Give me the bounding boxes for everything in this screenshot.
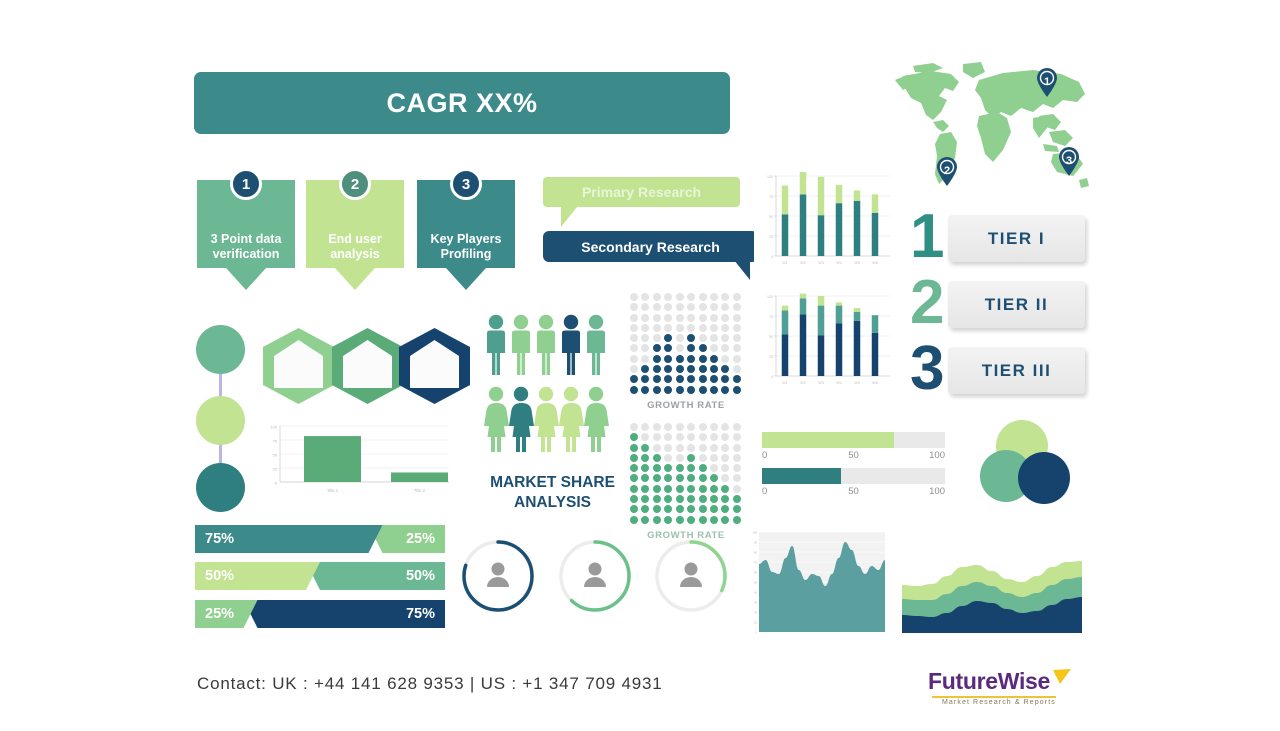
bar-segment-6-1 bbox=[872, 333, 879, 376]
bar-segment-3-2 bbox=[818, 177, 825, 215]
person-male-icon-1 bbox=[487, 315, 505, 375]
dot bbox=[676, 324, 684, 332]
dot bbox=[687, 444, 695, 452]
y-tick: 100 bbox=[270, 425, 277, 430]
step-card-3[interactable]: 3 Key Players Profiling bbox=[417, 180, 515, 280]
dot bbox=[676, 474, 684, 482]
dot bbox=[676, 516, 684, 524]
tier-row-2[interactable]: 2 TIER II bbox=[910, 281, 1085, 328]
scale-bar-ticks-2: 0 50 100 bbox=[762, 486, 945, 500]
dot bbox=[653, 454, 661, 462]
dot-matrix-growth-rate-green: GROWTH RATE bbox=[630, 423, 742, 541]
y-tick: 10 bbox=[754, 621, 757, 625]
y-tick: 25 bbox=[769, 355, 773, 359]
y-tick: 90 bbox=[754, 541, 757, 545]
tier-row-1[interactable]: 1 TIER I bbox=[910, 215, 1085, 262]
dot bbox=[630, 423, 638, 431]
dot bbox=[630, 344, 638, 352]
dot bbox=[699, 365, 707, 373]
cagr-banner: CAGR XX% bbox=[194, 72, 730, 134]
donut-progress-1 bbox=[459, 537, 537, 615]
y-tick: 0 bbox=[771, 255, 773, 259]
step-card-2[interactable]: 2 End user analysis bbox=[306, 180, 404, 280]
scale-tick-0-1: 0 bbox=[762, 450, 767, 461]
step-label-2: End user analysis bbox=[306, 232, 404, 262]
dot bbox=[710, 423, 718, 431]
dot bbox=[710, 495, 718, 503]
dot bbox=[687, 334, 695, 342]
area-chart-teal: 1009080706050403020100 bbox=[747, 528, 887, 636]
bubble-tail-secondary bbox=[734, 260, 750, 280]
dot bbox=[721, 386, 729, 394]
dot bbox=[733, 303, 741, 311]
dot bbox=[710, 365, 718, 373]
dot bbox=[630, 444, 638, 452]
bar-segment-2-2 bbox=[800, 298, 807, 314]
percent-split-bar-3: 75%25% bbox=[195, 600, 445, 628]
dot bbox=[630, 433, 638, 441]
percent-left-2: 50% bbox=[195, 562, 234, 590]
dot bbox=[641, 375, 649, 383]
market-share-analysis-title: MARKET SHARE ANALYSIS bbox=[470, 473, 635, 513]
dot bbox=[664, 334, 672, 342]
chain-circle-1 bbox=[196, 325, 245, 374]
map-landmass-7 bbox=[975, 70, 1085, 118]
dot bbox=[710, 334, 718, 342]
dot bbox=[641, 314, 649, 322]
dot bbox=[721, 324, 729, 332]
pin-label: 3 bbox=[1057, 150, 1081, 172]
bar-segment-1-1 bbox=[782, 334, 789, 376]
person-male-icon-3 bbox=[537, 315, 555, 375]
dot bbox=[653, 474, 661, 482]
y-tick: 0 bbox=[771, 375, 773, 379]
dot bbox=[653, 355, 661, 363]
person-female-icon-3 bbox=[534, 387, 559, 452]
dot bbox=[733, 495, 741, 503]
map-landmass-11 bbox=[1049, 130, 1073, 146]
dot bbox=[721, 444, 729, 452]
percent-left-1: 75% bbox=[195, 525, 234, 553]
dot bbox=[687, 474, 695, 482]
percent-split-bar-1: 25%75% bbox=[195, 525, 445, 553]
dot bbox=[710, 464, 718, 472]
dot bbox=[641, 423, 649, 431]
dot bbox=[630, 324, 638, 332]
dot bbox=[641, 344, 649, 352]
pin-label: 1 bbox=[1035, 71, 1059, 93]
y-tick: 20 bbox=[754, 611, 757, 615]
dot bbox=[687, 324, 695, 332]
futurewise-logo: FutureWise Market Research & Reports bbox=[928, 668, 1078, 716]
dot bbox=[641, 303, 649, 311]
dot bbox=[676, 433, 684, 441]
dot bbox=[699, 386, 707, 394]
dot bbox=[687, 433, 695, 441]
dot bbox=[721, 334, 729, 342]
person-icon bbox=[487, 563, 509, 588]
y-tick: 60 bbox=[754, 571, 757, 575]
dot bbox=[721, 423, 729, 431]
chain-connector-2 bbox=[219, 443, 222, 465]
chain-circle-3 bbox=[196, 463, 245, 512]
dot bbox=[676, 355, 684, 363]
bar-segment-6-2 bbox=[872, 194, 879, 212]
dot bbox=[699, 485, 707, 493]
dot bbox=[721, 474, 729, 482]
scale-tick-50-2: 50 bbox=[848, 486, 859, 497]
dot bbox=[653, 485, 661, 493]
world-map: 123 bbox=[893, 58, 1093, 203]
dot bbox=[733, 355, 741, 363]
bar-segment-1-2 bbox=[782, 310, 789, 334]
dot bbox=[721, 293, 729, 301]
dot bbox=[699, 314, 707, 322]
dot bbox=[653, 495, 661, 503]
dot bbox=[641, 485, 649, 493]
dot bbox=[676, 495, 684, 503]
dot bbox=[710, 355, 718, 363]
dot bbox=[710, 344, 718, 352]
secondary-research-bubble[interactable]: Secondary Research bbox=[543, 231, 758, 262]
dot bbox=[653, 444, 661, 452]
bar-segment-4-2 bbox=[836, 306, 843, 324]
dot bbox=[630, 355, 638, 363]
dot bbox=[699, 423, 707, 431]
scale-tick-0-2: 0 bbox=[762, 486, 767, 497]
dot bbox=[687, 485, 695, 493]
scale-tick-50-1: 50 bbox=[848, 450, 859, 461]
bar-segment-2-2 bbox=[800, 172, 807, 194]
dot bbox=[664, 516, 672, 524]
dot bbox=[687, 344, 695, 352]
y-tick: 0 bbox=[756, 631, 758, 635]
dot bbox=[664, 495, 672, 503]
scale-bar-1: 0 50 100 bbox=[762, 432, 945, 464]
dot bbox=[664, 293, 672, 301]
dot bbox=[710, 303, 718, 311]
dot bbox=[687, 454, 695, 462]
logo-wordmark: FutureWise bbox=[928, 668, 1050, 695]
y-tick: 100 bbox=[767, 175, 773, 179]
bar-segment-2-1 bbox=[800, 194, 807, 256]
dot bbox=[721, 454, 729, 462]
contact-info: Contact: UK : +44 141 628 9353 | US : +1… bbox=[197, 674, 663, 694]
dot bbox=[653, 293, 661, 301]
dot bbox=[630, 464, 638, 472]
dot bbox=[653, 334, 661, 342]
dot bbox=[664, 386, 672, 394]
dot bbox=[653, 464, 661, 472]
dot bbox=[687, 365, 695, 373]
y-tick: 50 bbox=[754, 581, 757, 585]
logo-tagline: Market Research & Reports bbox=[942, 699, 1056, 706]
bar-segment-1-2 bbox=[782, 186, 789, 215]
y-tick: 40 bbox=[754, 591, 757, 595]
bar-segment-5-2 bbox=[854, 190, 861, 200]
map-landmass-4 bbox=[933, 120, 949, 132]
dot bbox=[721, 505, 729, 513]
tier-plate-2: TIER II bbox=[948, 281, 1085, 328]
y-tick: 75 bbox=[273, 439, 278, 444]
y-tick: 50 bbox=[769, 335, 773, 339]
dot bbox=[630, 454, 638, 462]
person-icon bbox=[584, 563, 606, 588]
dot bbox=[721, 485, 729, 493]
dot bbox=[699, 355, 707, 363]
x-label-3: W3 bbox=[818, 261, 823, 265]
dot bbox=[630, 516, 638, 524]
x-label-1: Title 1 bbox=[327, 488, 339, 493]
dot bbox=[664, 454, 672, 462]
x-label-2: Title 2 bbox=[414, 488, 426, 493]
dot bbox=[653, 433, 661, 441]
dot bbox=[630, 474, 638, 482]
dot bbox=[733, 454, 741, 462]
people-icon-group bbox=[484, 312, 614, 452]
chain-connector-1 bbox=[219, 372, 222, 398]
dot bbox=[687, 386, 695, 394]
bar-segment-6-1 bbox=[872, 213, 879, 256]
dot bbox=[687, 423, 695, 431]
dot bbox=[664, 444, 672, 452]
dot bbox=[699, 375, 707, 383]
bubble-tail-primary bbox=[561, 207, 577, 227]
dot bbox=[664, 314, 672, 322]
chain-circle-2 bbox=[196, 396, 245, 445]
map-landmass-6 bbox=[963, 62, 985, 78]
dot bbox=[710, 293, 718, 301]
bar-segment-5-1 bbox=[854, 201, 861, 256]
dot bbox=[710, 444, 718, 452]
step-tail-3 bbox=[446, 268, 486, 290]
mini-bar-chart: 0255075100Title 1Title 2 bbox=[258, 420, 453, 502]
dot bbox=[653, 386, 661, 394]
dot bbox=[641, 433, 649, 441]
person-female-icon-4 bbox=[559, 387, 584, 452]
bar-2 bbox=[391, 472, 448, 482]
x-label-1: W1 bbox=[782, 261, 787, 265]
bar-1 bbox=[304, 436, 361, 482]
map-pin-3[interactable]: 3 bbox=[1057, 147, 1081, 177]
dot-matrix-caption-green: GROWTH RATE bbox=[630, 530, 742, 541]
map-pin-2[interactable]: 2 bbox=[935, 157, 959, 187]
dot bbox=[699, 293, 707, 301]
dot bbox=[676, 334, 684, 342]
person-female-icon-2 bbox=[509, 387, 534, 452]
percent-split-bar-2: 50%50% bbox=[195, 562, 445, 590]
dot bbox=[710, 505, 718, 513]
x-label-4: W4 bbox=[836, 261, 841, 265]
dot bbox=[653, 516, 661, 524]
dot bbox=[733, 334, 741, 342]
scale-bar-2: 0 50 100 bbox=[762, 468, 945, 500]
venn-circle-3 bbox=[1018, 452, 1070, 504]
dot bbox=[676, 293, 684, 301]
area-chart-stacked bbox=[902, 533, 1082, 633]
dot bbox=[653, 324, 661, 332]
dot bbox=[699, 505, 707, 513]
dot bbox=[687, 464, 695, 472]
dot bbox=[699, 444, 707, 452]
dot bbox=[630, 495, 638, 503]
person-male-icon-5 bbox=[587, 315, 605, 375]
tier-label-1: TIER I bbox=[988, 229, 1045, 249]
dot bbox=[664, 303, 672, 311]
dot-grid-navy bbox=[630, 293, 742, 394]
dot bbox=[653, 344, 661, 352]
person-male-icon-2 bbox=[512, 315, 530, 375]
dot bbox=[664, 485, 672, 493]
person-male-icon-4 bbox=[562, 315, 580, 375]
venn-circles bbox=[978, 418, 1078, 510]
tier-number-2: 2 bbox=[910, 272, 944, 334]
y-tick: 25 bbox=[769, 235, 773, 239]
y-tick: 0 bbox=[275, 481, 278, 486]
scale-tick-100-1: 100 bbox=[929, 450, 945, 461]
dot bbox=[733, 293, 741, 301]
dot bbox=[630, 365, 638, 373]
y-tick: 50 bbox=[769, 215, 773, 219]
map-landmass-10 bbox=[1033, 116, 1047, 138]
step-number-2: 2 bbox=[339, 168, 371, 200]
bar-segment-1-3 bbox=[782, 306, 789, 311]
dot-matrix-caption-navy: GROWTH RATE bbox=[630, 400, 742, 411]
bar-segment-1-1 bbox=[782, 214, 789, 256]
dot bbox=[699, 303, 707, 311]
pin-label: 2 bbox=[935, 160, 959, 182]
dot-grid-green bbox=[630, 423, 742, 524]
step-card-1[interactable]: 1 3 Point data verification bbox=[197, 180, 295, 280]
step-label-3: Key Players Profiling bbox=[417, 232, 515, 262]
dot bbox=[721, 365, 729, 373]
map-landmass-14 bbox=[1079, 178, 1089, 188]
dot bbox=[699, 474, 707, 482]
bar-segment-2-1 bbox=[800, 314, 807, 376]
dot bbox=[664, 505, 672, 513]
dot bbox=[699, 454, 707, 462]
bar-segment-5-1 bbox=[854, 321, 861, 376]
dot bbox=[676, 485, 684, 493]
dot bbox=[710, 386, 718, 394]
secondary-research-label: Secondary Research bbox=[581, 239, 720, 255]
tier-row-3[interactable]: 3 TIER III bbox=[910, 347, 1085, 394]
dot bbox=[676, 454, 684, 462]
x-label-6: W6 bbox=[872, 381, 877, 385]
x-label-2: W2 bbox=[800, 381, 805, 385]
dot bbox=[699, 324, 707, 332]
map-landmass-9 bbox=[977, 112, 1011, 162]
dot bbox=[721, 516, 729, 524]
dot bbox=[710, 454, 718, 462]
dot bbox=[687, 495, 695, 503]
dot bbox=[733, 505, 741, 513]
dot bbox=[721, 314, 729, 322]
person-female-icon-1 bbox=[484, 387, 509, 452]
bar-segment-2-3 bbox=[800, 294, 807, 299]
logo-arrow-icon bbox=[1052, 668, 1072, 686]
dot bbox=[733, 365, 741, 373]
y-tick: 50 bbox=[273, 453, 278, 458]
step-tail-1 bbox=[226, 268, 266, 290]
bar-segment-3-1 bbox=[818, 215, 825, 256]
dot bbox=[676, 444, 684, 452]
primary-research-bubble[interactable]: Primary Research bbox=[543, 177, 740, 207]
dot bbox=[733, 474, 741, 482]
hexagon-3 bbox=[398, 327, 471, 405]
person-female-icon-5 bbox=[584, 387, 609, 452]
dot bbox=[733, 324, 741, 332]
donut-progress-2 bbox=[556, 537, 634, 615]
bar-segment-4-3 bbox=[836, 302, 843, 305]
dot bbox=[733, 386, 741, 394]
person-icon bbox=[680, 563, 702, 588]
dot bbox=[653, 365, 661, 373]
dot bbox=[710, 474, 718, 482]
x-label-2: W2 bbox=[800, 261, 805, 265]
dot bbox=[733, 423, 741, 431]
dot bbox=[676, 505, 684, 513]
dot bbox=[630, 505, 638, 513]
dot bbox=[687, 375, 695, 383]
dot bbox=[733, 464, 741, 472]
dot bbox=[721, 303, 729, 311]
dot bbox=[733, 444, 741, 452]
map-pin-1[interactable]: 1 bbox=[1035, 68, 1059, 98]
market-share-line-1: MARKET SHARE bbox=[470, 473, 635, 493]
bar-segment-4-1 bbox=[836, 203, 843, 256]
step-number-1: 1 bbox=[230, 168, 262, 200]
tier-label-3: TIER III bbox=[982, 361, 1052, 381]
dot bbox=[630, 293, 638, 301]
dot bbox=[721, 433, 729, 441]
scale-bar-track-1 bbox=[762, 432, 945, 448]
dot bbox=[721, 355, 729, 363]
dot bbox=[676, 423, 684, 431]
dot bbox=[630, 303, 638, 311]
logo-divider bbox=[932, 696, 1056, 698]
dot bbox=[721, 464, 729, 472]
dot bbox=[733, 485, 741, 493]
dot bbox=[641, 464, 649, 472]
hexagon-2 bbox=[331, 327, 404, 405]
dot bbox=[653, 505, 661, 513]
dot bbox=[664, 344, 672, 352]
dot bbox=[676, 344, 684, 352]
tier-plate-3: TIER III bbox=[948, 347, 1085, 394]
dot bbox=[641, 454, 649, 462]
dot bbox=[664, 474, 672, 482]
x-label-5: W5 bbox=[854, 381, 859, 385]
dot bbox=[710, 485, 718, 493]
dot bbox=[664, 464, 672, 472]
dot bbox=[653, 303, 661, 311]
x-label-1: W1 bbox=[782, 381, 787, 385]
tier-label-2: TIER II bbox=[985, 295, 1048, 315]
dot bbox=[687, 355, 695, 363]
y-tick: 75 bbox=[769, 315, 773, 319]
dot bbox=[687, 516, 695, 524]
bar-segment-3-2 bbox=[818, 306, 825, 336]
x-label-4: W4 bbox=[836, 381, 841, 385]
dot bbox=[699, 516, 707, 524]
y-tick: 30 bbox=[754, 601, 757, 605]
stacked-bar-chart-1: 0255075100W1W2W3W4W5W6 bbox=[754, 168, 894, 276]
dot bbox=[641, 324, 649, 332]
y-tick: 25 bbox=[273, 467, 278, 472]
dot bbox=[710, 314, 718, 322]
step-tail-2 bbox=[335, 268, 375, 290]
